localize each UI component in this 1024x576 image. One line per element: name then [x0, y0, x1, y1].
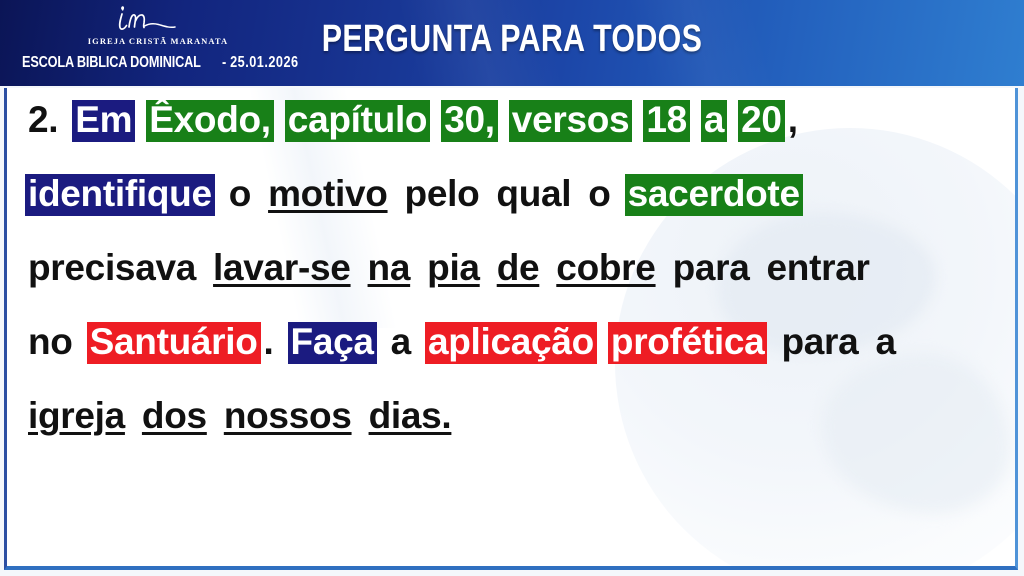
question-word: qual [493, 174, 574, 216]
question-line: precisavalavar-senapiadecobreparaentrar [25, 248, 999, 297]
question-text: 2.EmÊxodo,capítulo30,versos18a20,identif… [7, 88, 1015, 445]
question-word: no [25, 322, 76, 364]
question-word: 20 [738, 100, 785, 142]
question-word: o [226, 174, 254, 216]
content-panel: 2.EmÊxodo,capítulo30,versos18a20,identif… [4, 88, 1018, 570]
question-line: identifiqueomotivopeloqualosacerdote [25, 174, 999, 223]
slide: IGREJA CRISTÃ MARANATA ESCOLA BIBLICA DO… [0, 0, 1024, 576]
question-word: aplicação [425, 322, 597, 364]
question-word: Êxodo, [146, 100, 274, 142]
question-word: o [585, 174, 613, 216]
question-line: 2.EmÊxodo,capítulo30,versos18a20, [25, 100, 999, 149]
question-word: pia [424, 248, 483, 290]
question-word: nossos [221, 396, 355, 438]
question-word: pelo [402, 174, 483, 216]
question-word: a [872, 322, 898, 364]
question-word: , [785, 100, 801, 142]
question-word: profética [608, 322, 768, 364]
question-word: motivo [265, 174, 390, 216]
question-word: cobre [553, 248, 658, 290]
question-word: entrar [764, 248, 873, 290]
question-line: noSantuário.Façaaaplicaçãoproféticaparaa [25, 322, 999, 371]
question-word: 30, [441, 100, 498, 142]
question-line: igrejadosnossosdias. [25, 396, 999, 445]
header-banner: IGREJA CRISTÃ MARANATA ESCOLA BIBLICA DO… [0, 0, 1024, 86]
question-word: dias. [366, 396, 455, 438]
question-word: capítulo [285, 100, 430, 142]
question-word: . [261, 322, 277, 364]
question-word: lavar-se [210, 248, 354, 290]
page-title: PERGUNTA PARA TODOS [102, 18, 921, 61]
question-word: Faça [288, 322, 377, 364]
question-word: 2. [25, 100, 61, 142]
question-word: a [701, 100, 727, 142]
question-word: para [670, 248, 753, 290]
question-word: sacerdote [625, 174, 803, 216]
question-word: dos [139, 396, 210, 438]
question-word: 18 [643, 100, 690, 142]
question-word: versos [509, 100, 633, 142]
question-word: precisava [25, 248, 199, 290]
question-word: para [778, 322, 861, 364]
question-word: Em [72, 100, 135, 142]
question-word: a [388, 322, 414, 364]
question-word: Santuário [87, 322, 261, 364]
question-word: igreja [25, 396, 128, 438]
question-word: na [365, 248, 414, 290]
question-word: de [494, 248, 543, 290]
question-word: identifique [25, 174, 215, 216]
